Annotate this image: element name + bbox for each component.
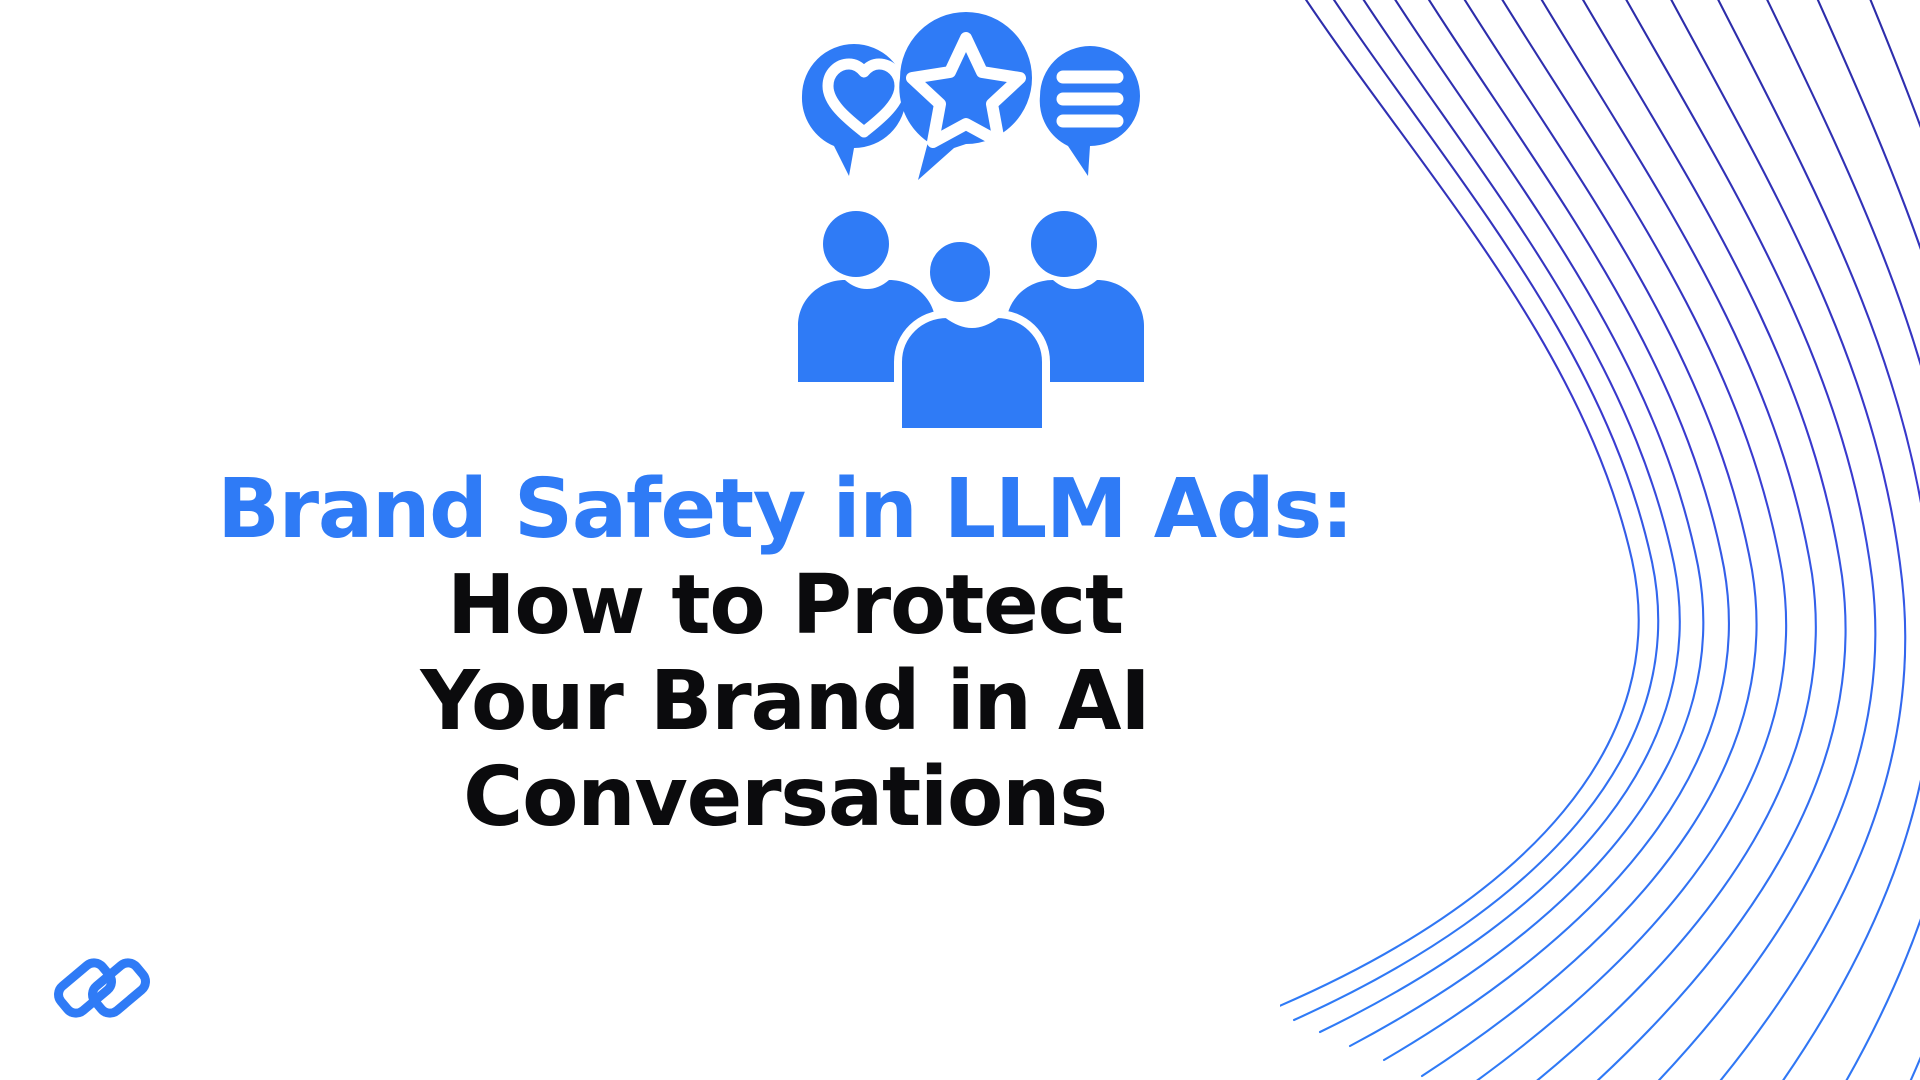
star-bubble <box>899 12 1032 180</box>
heart-bubble <box>802 44 906 176</box>
headline-main-text: How to Protect Your Brand in AI Conversa… <box>385 558 1185 846</box>
message-bubble <box>1040 46 1140 176</box>
poster-canvas: Brand Safety in LLM Ads: How to Protect … <box>0 0 1920 1080</box>
chain-link-logo[interactable] <box>52 948 152 1028</box>
person-center <box>898 238 1046 432</box>
community-feedback-illustration <box>750 8 1170 448</box>
headline-accent-line: Brand Safety in LLM Ads: <box>40 462 1530 558</box>
headline-block: Brand Safety in LLM Ads: How to Protect … <box>0 462 1570 846</box>
